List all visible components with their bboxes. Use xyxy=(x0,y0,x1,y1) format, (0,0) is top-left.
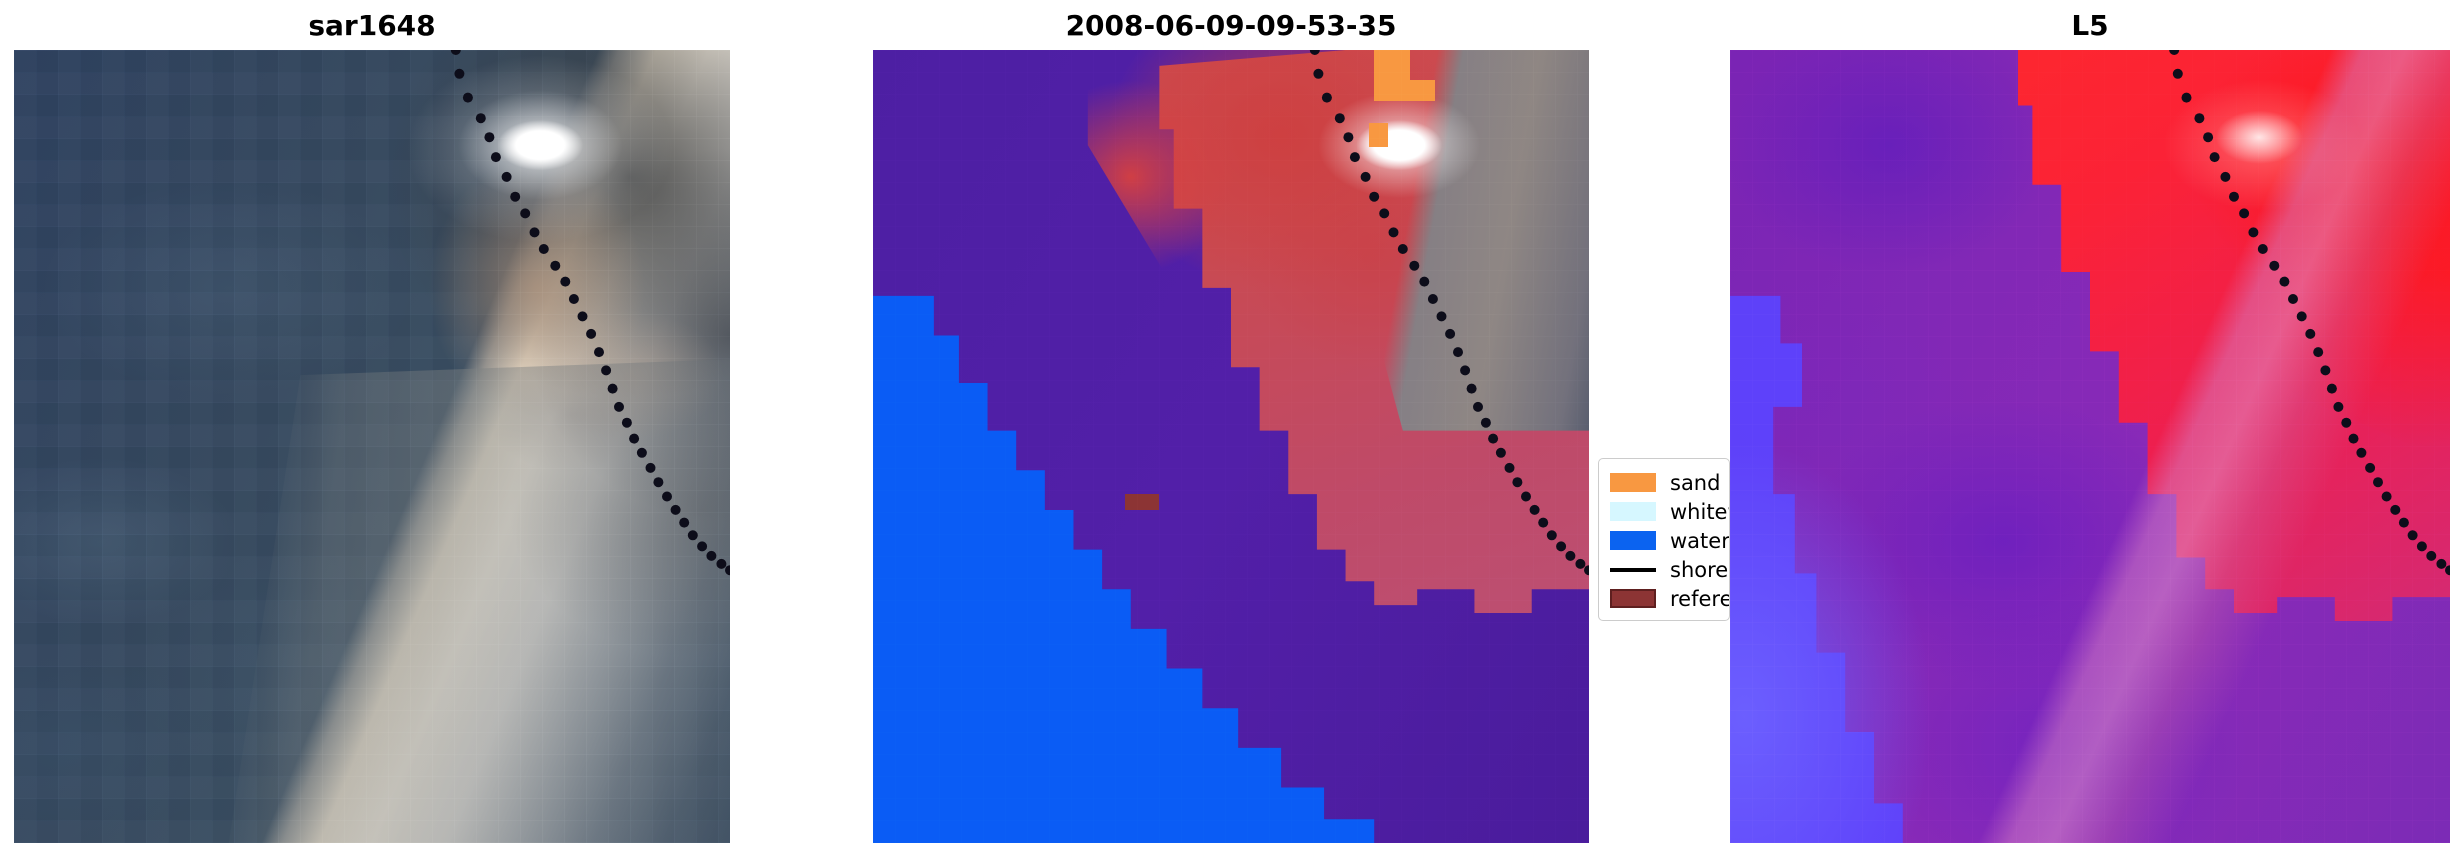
legend-item: sand xyxy=(1610,468,1719,497)
legend-color-swatch xyxy=(1610,589,1656,608)
panel-title-sar: sar1648 xyxy=(14,9,730,43)
panel-image-sar[interactable] xyxy=(14,50,730,843)
legend-item-label: reference shoreline xyxy=(1670,587,1730,611)
legend-item-label: shoreline xyxy=(1670,558,1730,582)
legend-item: reference shoreline xyxy=(1610,584,1719,613)
panel-image-classified[interactable] xyxy=(873,50,1589,843)
legend-line-swatch xyxy=(1610,560,1656,579)
legend-color-swatch xyxy=(1610,502,1656,521)
legend-item-label: whitewater xyxy=(1670,500,1730,524)
shoreline-dots-sar xyxy=(14,50,730,843)
panel-title-l5: L5 xyxy=(1730,9,2450,43)
legend-item: whitewater xyxy=(1610,497,1719,526)
legend-item: water xyxy=(1610,526,1719,555)
legend-item-label: sand xyxy=(1670,471,1720,495)
legend-box: sandwhitewaterwatershorelinereference sh… xyxy=(1598,458,1730,621)
panel-title-classified: 2008-06-09-09-53-35 xyxy=(873,9,1589,43)
legend-item: shoreline xyxy=(1610,555,1719,584)
panel-image-l5[interactable] xyxy=(1730,50,2450,843)
shoreline-dots-classified xyxy=(873,50,1589,843)
legend-item-label: water xyxy=(1670,529,1730,553)
legend-color-swatch xyxy=(1610,473,1656,492)
legend-color-swatch xyxy=(1610,531,1656,550)
shoreline-dots-l5 xyxy=(1730,50,2450,843)
figure-canvas: sar1648 2008-06-09-09-53-35 xyxy=(0,0,2460,862)
